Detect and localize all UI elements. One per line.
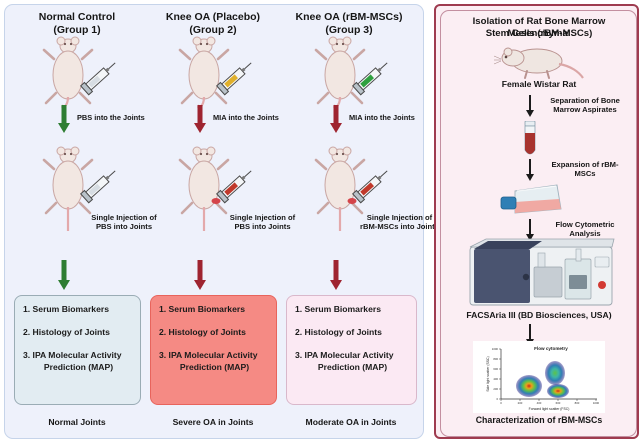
svg-text:600: 600 <box>556 401 561 405</box>
svg-text:1000: 1000 <box>492 347 499 351</box>
group3-outcome-item-3: 3. IPA Molecular Activity <box>295 350 410 360</box>
group3-title-line1: Knee OA (rBM-MSCs) <box>276 11 422 24</box>
group1-treatment-arrow <box>57 260 70 290</box>
facsaria-label: FACSAria III (BD Biosciences, USA) <box>447 311 631 321</box>
rbm-msc-isolation-inner: Isolation of Rat Bone Marrow Mesenchymal… <box>440 10 637 437</box>
flow-plot-xlabel: Forward light scatter (FSC) <box>529 407 570 411</box>
group2-outcome-item-3b: Prediction (MAP) <box>159 362 270 372</box>
group3-outcome-box: 1. Serum Biomarkers 2. Histology of Join… <box>286 295 417 405</box>
right-panel-title-line2: Stem Cells (rBM-MSCs) <box>443 28 635 40</box>
syringe-red-icon-2 <box>351 165 395 205</box>
svg-text:200: 200 <box>493 387 498 391</box>
syringe-clear-icon-2 <box>79 165 123 205</box>
group1-title-line1: Normal Control <box>7 11 147 24</box>
group2-outcome-item-2: 2. Histology of Joints <box>159 327 270 337</box>
group2-caption: Severe OA in Joints <box>143 417 283 427</box>
svg-text:400: 400 <box>493 377 498 381</box>
group-column-2: Knee OA (Placebo) (Group 2) <box>143 5 283 440</box>
svg-text:200: 200 <box>518 401 523 405</box>
group-column-1: Normal Control (Group 1) <box>7 5 147 440</box>
population-3 <box>547 384 569 398</box>
group3-outcome-item-1: 1. Serum Biomarkers <box>295 304 410 314</box>
svg-text:600: 600 <box>493 367 498 371</box>
group1-outcome-item-1: 1. Serum Biomarkers <box>23 304 134 314</box>
population-2 <box>545 361 565 385</box>
svg-text:800: 800 <box>493 357 498 361</box>
group3-caption: Moderate OA in Joints <box>279 417 423 427</box>
rat-lateral-icon <box>493 42 585 80</box>
group3-outcome-item-3b: Prediction (MAP) <box>295 362 410 372</box>
group2-outcome-box: 1. Serum Biomarkers 2. Histology of Join… <box>150 295 277 405</box>
group1-outcome-item-3b: Prediction (MAP) <box>23 362 134 372</box>
flow-plot-ylabel: Side light scatter (SSC) <box>486 356 490 391</box>
rbm-msc-isolation-panel: Isolation of Rat Bone Marrow Mesenchymal… <box>434 4 639 439</box>
syringe-yellow-icon <box>215 57 259 97</box>
figure-root: Normal Control (Group 1) <box>0 0 643 443</box>
blood-tube-icon <box>520 121 540 159</box>
flow-plot-title: Flow cytometry <box>534 346 568 351</box>
flow-cytometry-plot: Flow cytometry 0200400 6008001000 <box>473 341 605 413</box>
population-1 <box>516 375 542 397</box>
group2-induction-arrow <box>193 105 206 133</box>
group-column-3: Knee OA (rBM-MSCs) (Group 3) <box>279 5 419 440</box>
syringe-red-icon <box>215 165 259 205</box>
final-caption: Characterization of rBM-MSCs <box>445 415 633 425</box>
svg-text:800: 800 <box>575 401 580 405</box>
group2-outcome-item-1: 1. Serum Biomarkers <box>159 304 270 314</box>
syringe-green-icon <box>351 57 395 97</box>
step2-arrow-label-line2: MSCs <box>537 169 633 179</box>
facs-sorter-icon <box>464 237 619 309</box>
group1-outcome-box: 1. Serum Biomarkers 2. Histology of Join… <box>14 295 141 405</box>
group1-outcome-item-2: 2. Histology of Joints <box>23 327 134 337</box>
group1-induction-arrow <box>57 105 70 133</box>
svg-text:400: 400 <box>537 401 542 405</box>
step1-arrow-label-line2: Marrow Aspirates <box>537 105 633 115</box>
syringe-clear-icon <box>79 57 123 97</box>
group3-treatment-arrow <box>329 260 342 290</box>
svg-text:1000: 1000 <box>593 401 600 405</box>
group2-treatment-arrow <box>193 260 206 290</box>
group1-outcome-item-3: 3. IPA Molecular Activity <box>23 350 134 360</box>
group3-outcome-item-2: 2. Histology of Joints <box>295 327 410 337</box>
step-arrow-1 <box>525 95 534 117</box>
group2-outcome-item-3: 3. IPA Molecular Activity <box>159 350 270 360</box>
culture-flask-icon <box>499 183 565 219</box>
group1-caption: Normal Joints <box>7 417 147 427</box>
experimental-design-panel: Normal Control (Group 1) <box>4 4 424 439</box>
group3-induction-arrow <box>329 105 342 133</box>
step-arrow-2 <box>525 159 534 181</box>
female-wistar-rat-label: Female Wistar Rat <box>459 80 619 90</box>
group2-title-line1: Knee OA (Placebo) <box>143 11 283 24</box>
